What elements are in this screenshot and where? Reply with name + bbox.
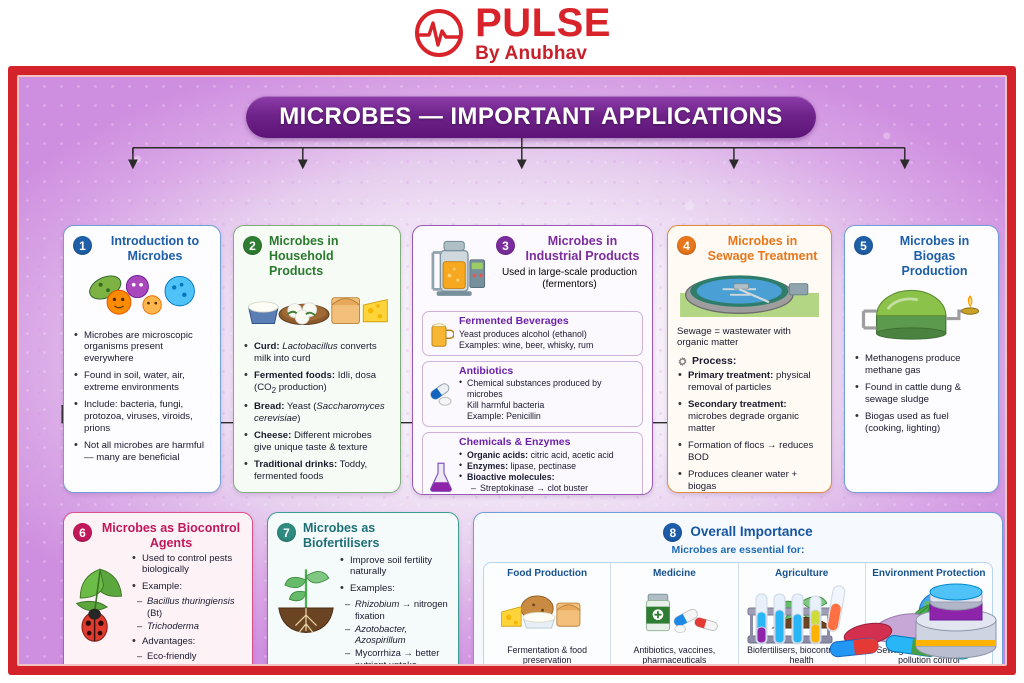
- panel2-lines: Chemical substances produced by microbes…: [459, 378, 637, 422]
- panel3-lines: Organic acids: citric acid, acetic acid …: [459, 450, 637, 495]
- panel2-title: Antibiotics: [459, 366, 637, 378]
- card5-title: Microbes in Biogas Production: [880, 234, 989, 278]
- list-item: Traditional drinks: Toddy, fermented foo…: [243, 459, 391, 483]
- card6-example-items: Bacillus thuringiensis (Bt) Trichoderma: [137, 595, 243, 631]
- card4-header: 4 Microbes in Sewage Treatment: [677, 234, 822, 264]
- gear-icon: [677, 356, 688, 367]
- card8-header: 8 Overall Importance: [483, 521, 993, 542]
- panel1-line1: Yeast produces alcohol (ethanol): [459, 329, 637, 340]
- list-item: Bioactive molecules:: [459, 472, 637, 483]
- card4-number-badge: 4: [677, 236, 696, 255]
- lead-label: Organic acids:: [467, 450, 528, 460]
- card2-title: Microbes in Household Products: [269, 234, 391, 278]
- card7-bullets: Improve soil fertility naturally Example…: [339, 555, 449, 596]
- card3-title: Microbes in Industrial Products: [522, 234, 643, 264]
- list-item: Cheese: Different microbes give unique t…: [243, 430, 391, 454]
- lead-label: Secondary treatment:: [688, 399, 787, 410]
- capsule-pills-icon: [428, 366, 454, 422]
- card4-intro: Sewage = wastewater with organic matter: [677, 326, 822, 350]
- poster-frame: MICROBES — IMPORTANT APPLICATIONS 1 Intr…: [8, 66, 1016, 675]
- lead-label: Traditional drinks:: [254, 459, 337, 470]
- panel2-line1: Chemical substances produced by microbes: [459, 378, 637, 400]
- list-item: Include: bacteria, fungi, protozoa, viru…: [73, 399, 211, 435]
- list-item: Eco-friendly: [137, 650, 243, 661]
- main-title-text: MICROBES — IMPORTANT APPLICATIONS: [279, 103, 782, 131]
- card-biocontrol-agents[interactable]: 6 Microbes as Biocontrol Agents: [63, 512, 253, 666]
- lead-label: Primary treatment:: [688, 370, 773, 381]
- panel-antibiotics: Antibiotics Chemical substances produced…: [422, 361, 643, 427]
- card1-bullets: Microbes are microscopic organisms prese…: [73, 330, 211, 465]
- biogas-dome-plant-icon: [854, 283, 989, 341]
- list-item: Found in cattle dung & sewage sludge: [854, 382, 989, 406]
- card3-subtitle: Used in large-scale production (fermento…: [496, 267, 643, 292]
- card-sewage-treatment[interactable]: 4 Microbes in Sewage Treatment Sewage = …: [667, 225, 832, 493]
- card4-process-label: Process:: [692, 355, 736, 367]
- list-item: Fermented foods: Idli, dosa (CO2 product…: [243, 370, 391, 396]
- main-title-banner: MICROBES — IMPORTANT APPLICATIONS: [246, 96, 816, 138]
- panel1-title: Fermented Beverages: [459, 316, 637, 328]
- card3-number-badge: 3: [496, 236, 515, 255]
- fermentor-bioreactor-icon: [422, 234, 490, 306]
- card7-title: Microbes as Biofertilisers: [303, 521, 449, 551]
- card-industrial-products[interactable]: 3 Microbes in Industrial Products Used i…: [412, 225, 653, 495]
- list-item: Mycorrhiza → better nutrient uptake: [345, 647, 449, 666]
- panel2-line2: Kill harmful bacteria: [459, 400, 637, 411]
- pillar1-caption: Fermentation & food preservation: [488, 645, 606, 666]
- flask-icon: [428, 437, 454, 495]
- poster-canvas: MICROBES — IMPORTANT APPLICATIONS 1 Intr…: [17, 75, 1007, 666]
- card6-advantage-items: Eco-friendly Reduces chemical pesticide …: [137, 650, 243, 666]
- pillar2-caption: Antibiotics, vaccines, pharmaceuticals: [615, 645, 733, 666]
- card4-process-heading: Process:: [677, 355, 822, 367]
- card4-title: Microbes in Sewage Treatment: [703, 234, 822, 264]
- card6-header: 6 Microbes as Biocontrol Agents: [73, 521, 243, 551]
- card2-number-badge: 2: [243, 236, 262, 255]
- bread-cheese-curd-icon: [498, 588, 596, 636]
- list-item: Biogas used as fuel (cooking, lighting): [854, 411, 989, 435]
- card8-title: Overall Importance: [690, 524, 812, 539]
- list-item: Secondary treatment: microbes degrade or…: [677, 399, 822, 435]
- card6-title: Microbes as Biocontrol Agents: [99, 521, 243, 551]
- pillar2-art: [615, 579, 733, 645]
- list-item: Rhizobium → nitrogen fixation: [345, 598, 449, 621]
- card7-header: 7 Microbes as Biofertilisers: [277, 521, 449, 551]
- card7-example-items: Rhizobium → nitrogen fixation Azotobacte…: [345, 598, 449, 666]
- list-item: Bread: Yeast (Saccharomyces cerevisiae): [243, 401, 391, 425]
- card1-number-badge: 1: [73, 236, 92, 255]
- pillar1-art: [488, 579, 606, 645]
- card2-bullets: Curd: Lactobacillus converts milk into c…: [243, 341, 391, 483]
- list-item: Used to control pests biologically: [131, 553, 243, 577]
- list-item: Azotobacter, Azospirillum: [345, 623, 449, 646]
- leaf-ladybug-icon: [73, 553, 127, 661]
- panel-chemicals-enzymes: Chemicals & Enzymes Organic acids: citri…: [422, 432, 643, 495]
- card2-header: 2 Microbes in Household Products: [243, 234, 391, 278]
- list-item: Formation of flocs → reduces BOD: [677, 440, 822, 464]
- test-tubes-pills-jar-icon: [734, 580, 999, 662]
- card5-number-badge: 5: [854, 236, 873, 255]
- card-household-products[interactable]: 2 Microbes in Household Products: [233, 225, 401, 493]
- pillar3-title: Agriculture: [775, 568, 828, 579]
- curd-idli-bread-cheese-icon: [243, 282, 391, 330]
- card8-subtitle: Microbes are essential for:: [483, 544, 993, 556]
- panel2-line3: Example: Penicillin: [459, 411, 637, 422]
- card1-header: 1 Introduction to Microbes: [73, 234, 211, 264]
- list-item: Curd: Lactobacillus converts milk into c…: [243, 341, 391, 365]
- panel-fermented-beverages: Fermented Beverages Yeast produces alcoh…: [422, 311, 643, 356]
- card5-header: 5 Microbes in Biogas Production: [854, 234, 989, 278]
- list-item: Examples:: [339, 583, 449, 595]
- list-item: Improve soil fertility naturally: [339, 555, 449, 579]
- panel1-lines: Yeast produces alcohol (ethanol) Example…: [459, 329, 637, 351]
- seedling-roots-soil-icon: [277, 553, 335, 663]
- brand-subtitle: By Anubhav: [475, 44, 611, 63]
- lead-label: Bread:: [254, 401, 284, 412]
- list-item: Enzymes: lipase, pectinase: [459, 461, 637, 472]
- card1-title: Introduction to Microbes: [99, 234, 211, 264]
- card6-number-badge: 6: [73, 523, 92, 542]
- beer-mug-icon: [428, 316, 454, 351]
- list-item: Organic acids: citric acid, acetic acid: [459, 450, 637, 461]
- card4-bullets: Primary treatment: physical removal of p…: [677, 370, 822, 493]
- lead-label: Cheese:: [254, 430, 291, 441]
- pillar1-title: Food Production: [507, 568, 587, 579]
- card7-number-badge: 7: [277, 523, 296, 542]
- card-introduction-to-microbes[interactable]: 1 Introduction to Microbes: [63, 225, 221, 493]
- list-item: Bacillus thuringiensis (Bt): [137, 595, 243, 618]
- list-item: Trichoderma: [137, 620, 243, 631]
- card-biogas-production[interactable]: 5 Microbes in Biogas Production Methanog…: [844, 225, 999, 493]
- list-item: Methanogens produce methane gas: [854, 353, 989, 377]
- pulse-heartbeat-icon: [413, 7, 465, 59]
- lead-label: Bioactive molecules:: [467, 472, 555, 482]
- list-item: Found in soil, water, air, extreme envir…: [73, 370, 211, 394]
- list-item: Not all microbes are harmful — many are …: [73, 440, 211, 464]
- card8-number-badge: 8: [663, 523, 682, 542]
- list-item: Reduces chemical pesticide use: [137, 663, 243, 666]
- microbes-cluster-icon: [73, 267, 211, 319]
- list-item: Advantages:: [131, 636, 243, 648]
- pillar-food-production: Food Production Fermen: [484, 563, 610, 666]
- list-item: Example:: [131, 581, 243, 593]
- list-item: Primary treatment: physical removal of p…: [677, 370, 822, 394]
- brand-title: PULSE: [475, 3, 611, 43]
- panel1-line2: Examples: wine, beer, whisky, rum: [459, 340, 637, 351]
- list-item: Cyclosporin A → immunosuppressant: [471, 493, 637, 495]
- card6-advantages-head: Advantages:: [131, 636, 243, 648]
- pillar4-title: Environment Protection: [872, 568, 985, 579]
- lead-label: Fermented foods:: [254, 370, 335, 381]
- sewage-treatment-tank-icon: [677, 267, 822, 317]
- pillar-medicine: Medicine: [610, 563, 737, 666]
- pillar2-title: Medicine: [653, 568, 696, 579]
- card-biofertilisers[interactable]: 7 Microbes as Biofertilisers Improve soi…: [267, 512, 459, 666]
- list-item: Produces cleaner water + biogas: [677, 469, 822, 493]
- card3-header: 3 Microbes in Industrial Products: [496, 234, 643, 264]
- infographic-page: PULSE By Anubhav: [0, 0, 1024, 683]
- brand-header: PULSE By Anubhav: [0, 0, 1024, 66]
- lead-label: Enzymes:: [467, 461, 508, 471]
- list-item: Streptokinase → clot buster: [471, 483, 637, 494]
- card6-bullets: Used to control pests biologically Examp…: [131, 553, 243, 594]
- panel3-title: Chemicals & Enzymes: [459, 437, 637, 449]
- lead-label: Curd:: [254, 341, 280, 352]
- card5-bullets: Methanogens produce methane gas Found in…: [854, 353, 989, 435]
- list-item: Microbes are microscopic organisms prese…: [73, 330, 211, 366]
- medicine-bottle-pills-icon: [625, 588, 723, 636]
